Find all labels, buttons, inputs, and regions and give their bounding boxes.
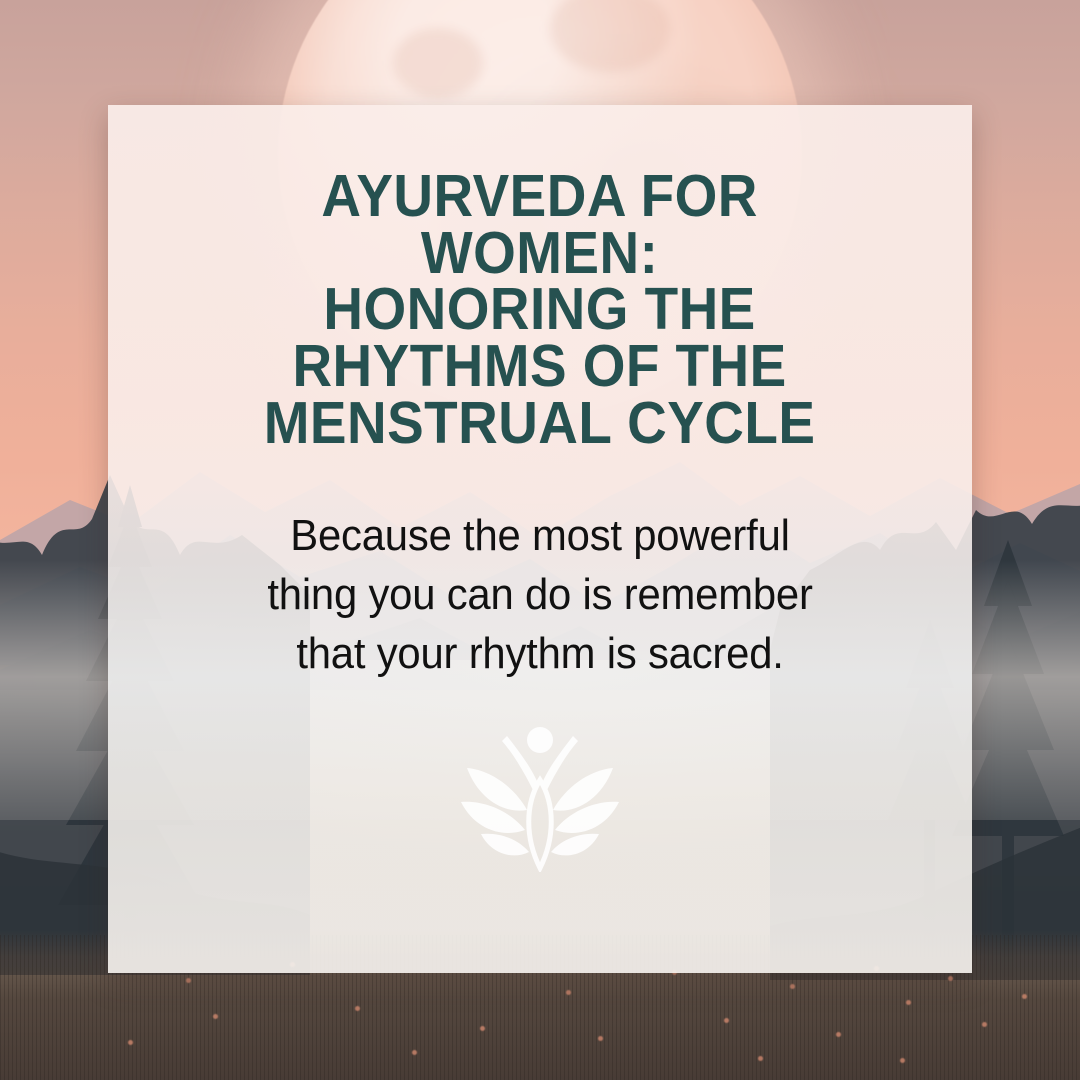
flower-dot — [758, 1056, 763, 1061]
flower-dot — [724, 1018, 729, 1023]
flower-dot — [1022, 994, 1027, 999]
subtitle-text: Because the most powerful thing you can … — [212, 507, 868, 684]
moon-crater — [550, 0, 670, 72]
flower-dot — [906, 1000, 911, 1005]
flower-dot — [128, 1040, 133, 1045]
flower-dot — [836, 1032, 841, 1037]
flower-dot — [412, 1050, 417, 1055]
page-title: AYURVEDA FOR WOMEN: HONORING THE RHYTHMS… — [236, 168, 843, 451]
flower-dot — [598, 1036, 603, 1041]
flower-dot — [480, 1026, 485, 1031]
flower-dot — [900, 1058, 905, 1063]
flower-dot — [948, 976, 953, 981]
flower-dot — [566, 990, 571, 995]
flower-dot — [355, 1006, 360, 1011]
content-card: AYURVEDA FOR WOMEN: HONORING THE RHYTHMS… — [108, 105, 972, 973]
flower-dot — [213, 1014, 218, 1019]
flower-dot — [982, 1022, 987, 1027]
flower-dot — [790, 984, 795, 989]
flower-dot — [186, 978, 191, 983]
lotus-figure-logo-icon — [455, 722, 625, 872]
poster-canvas: AYURVEDA FOR WOMEN: HONORING THE RHYTHMS… — [0, 0, 1080, 1080]
moon-crater — [393, 28, 483, 98]
